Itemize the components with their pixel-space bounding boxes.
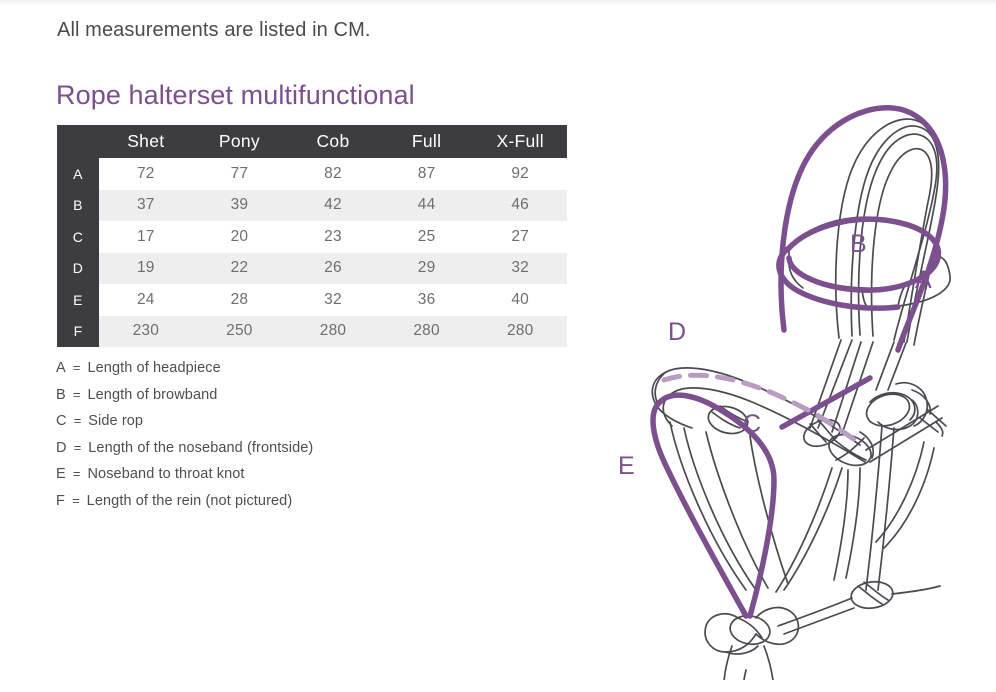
legend-key-d: D: [56, 440, 70, 456]
throat-tail-left-2: [784, 608, 854, 634]
cell-d-cob: 26: [286, 253, 380, 285]
legend-item-d: D = Length of the noseband (frontside): [56, 435, 476, 462]
rope-knot-lower-right: [849, 579, 894, 611]
legend-key-e: E: [56, 466, 69, 482]
noseband-cap-left: [660, 410, 692, 428]
table-header: Shet Pony Cob Full X-Full: [57, 125, 567, 158]
cell-a-shet: 72: [99, 158, 193, 190]
page-title: Rope halterset multifunctional: [56, 80, 415, 111]
legend-equals: =: [73, 360, 83, 375]
legend-key-c: C: [56, 413, 70, 429]
cell-d-x-full: 32: [473, 253, 567, 285]
cell-f-cob: 280: [286, 316, 380, 348]
diagram-label-c: C: [743, 410, 762, 439]
measurement-note: All measurements are listed in CM.: [57, 19, 371, 42]
cell-e-shet: 24: [99, 284, 193, 316]
legend-equals: =: [72, 493, 82, 508]
legend-item-c: C = Side rop: [56, 408, 476, 435]
cell-b-x-full: 46: [473, 190, 567, 222]
legend-text-d: Length of the noseband (frontside): [88, 440, 313, 456]
table-body: A 72 77 82 87 92 B 37 39 42 44 46 C 17 2…: [57, 158, 567, 347]
legend-text-b: Length of browband: [87, 387, 217, 403]
table-row: E 24 28 32 36 40: [57, 284, 567, 316]
cell-c-cob: 23: [286, 221, 380, 253]
legend-text-a: Length of headpiece: [87, 360, 220, 376]
diagram-label-a: A: [915, 266, 932, 295]
legend-equals: =: [74, 440, 84, 455]
cell-f-x-full: 280: [473, 316, 567, 348]
column-header-x-full: X-Full: [473, 125, 567, 158]
measure-line-b-lower: [779, 248, 898, 308]
cell-f-shet: 230: [99, 316, 193, 348]
row-label-d: D: [57, 253, 99, 285]
cell-a-full: 87: [380, 158, 474, 190]
column-header-full: Full: [380, 125, 474, 158]
row-label-b: B: [57, 190, 99, 222]
cell-c-full: 25: [380, 221, 474, 253]
legend-item-b: B = Length of browband: [56, 382, 476, 409]
cell-d-full: 29: [380, 253, 474, 285]
cell-c-pony: 20: [193, 221, 287, 253]
column-header-cob: Cob: [286, 125, 380, 158]
cell-c-shet: 17: [99, 221, 193, 253]
bottom-loop-inner-line: [743, 670, 746, 680]
table-row: B 37 39 42 44 46: [57, 190, 567, 222]
legend-key-f: F: [56, 493, 68, 509]
legend-key-b: B: [56, 387, 69, 403]
size-chart-table: Shet Pony Cob Full X-Full A 72 77 82 87 …: [57, 125, 567, 347]
throat-strand-diagonal-1: [876, 442, 924, 542]
table-header-row: Shet Pony Cob Full X-Full: [57, 125, 567, 158]
cell-b-shet: 37: [99, 190, 193, 222]
cell-a-x-full: 92: [473, 158, 567, 190]
cell-e-pony: 28: [193, 284, 287, 316]
cheek-left-strand-1: [670, 422, 746, 590]
rope-halter-diagram: A B C D E: [560, 50, 990, 680]
page-top-rule: [0, 0, 996, 6]
cell-d-shet: 19: [99, 253, 193, 285]
measurement-overlay-group: [653, 108, 946, 616]
row-label-c: C: [57, 221, 99, 253]
legend-equals: =: [74, 413, 84, 428]
cell-b-cob: 42: [286, 190, 380, 222]
legend-text-f: Length of the rein (not pictured): [87, 493, 293, 509]
cell-f-pony: 250: [193, 316, 287, 348]
cell-e-full: 36: [380, 284, 474, 316]
cheek-left-strand-5: [784, 468, 842, 590]
row-label-f: F: [57, 316, 99, 348]
table-row: F 230 250 280 280 280: [57, 316, 567, 348]
cell-f-full: 280: [380, 316, 474, 348]
halter-svg: [560, 50, 990, 680]
cell-a-cob: 82: [286, 158, 380, 190]
column-header-shet: Shet: [99, 125, 193, 158]
cell-a-pony: 77: [193, 158, 287, 190]
column-header-pony: Pony: [193, 125, 287, 158]
diagram-label-e: E: [618, 452, 635, 481]
table-corner-cell: [57, 125, 99, 158]
cell-b-pony: 39: [193, 190, 287, 222]
legend-item-e: E = Noseband to throat knot: [56, 461, 476, 488]
cell-e-x-full: 40: [473, 284, 567, 316]
cell-b-full: 44: [380, 190, 474, 222]
cell-c-x-full: 27: [473, 221, 567, 253]
cell-d-pony: 22: [193, 253, 287, 285]
measurement-legend: A = Length of headpiece B = Length of br…: [56, 355, 476, 514]
legend-text-e: Noseband to throat knot: [87, 466, 244, 482]
cell-e-cob: 32: [286, 284, 380, 316]
legend-item-a: A = Length of headpiece: [56, 355, 476, 382]
row-label-a: A: [57, 158, 99, 190]
row-label-e: E: [57, 284, 99, 316]
diagram-label-b: B: [850, 230, 867, 259]
diagram-label-d: D: [668, 318, 687, 347]
legend-equals: =: [73, 387, 83, 402]
throat-tail-right: [892, 586, 940, 594]
legend-equals: =: [73, 466, 83, 481]
table-row: C 17 20 23 25 27: [57, 221, 567, 253]
legend-key-a: A: [56, 360, 69, 376]
table-row: D 19 22 26 29 32: [57, 253, 567, 285]
legend-item-f: F = Length of the rein (not pictured): [56, 488, 476, 515]
legend-text-c: Side rop: [88, 413, 143, 429]
table-row: A 72 77 82 87 92: [57, 158, 567, 190]
